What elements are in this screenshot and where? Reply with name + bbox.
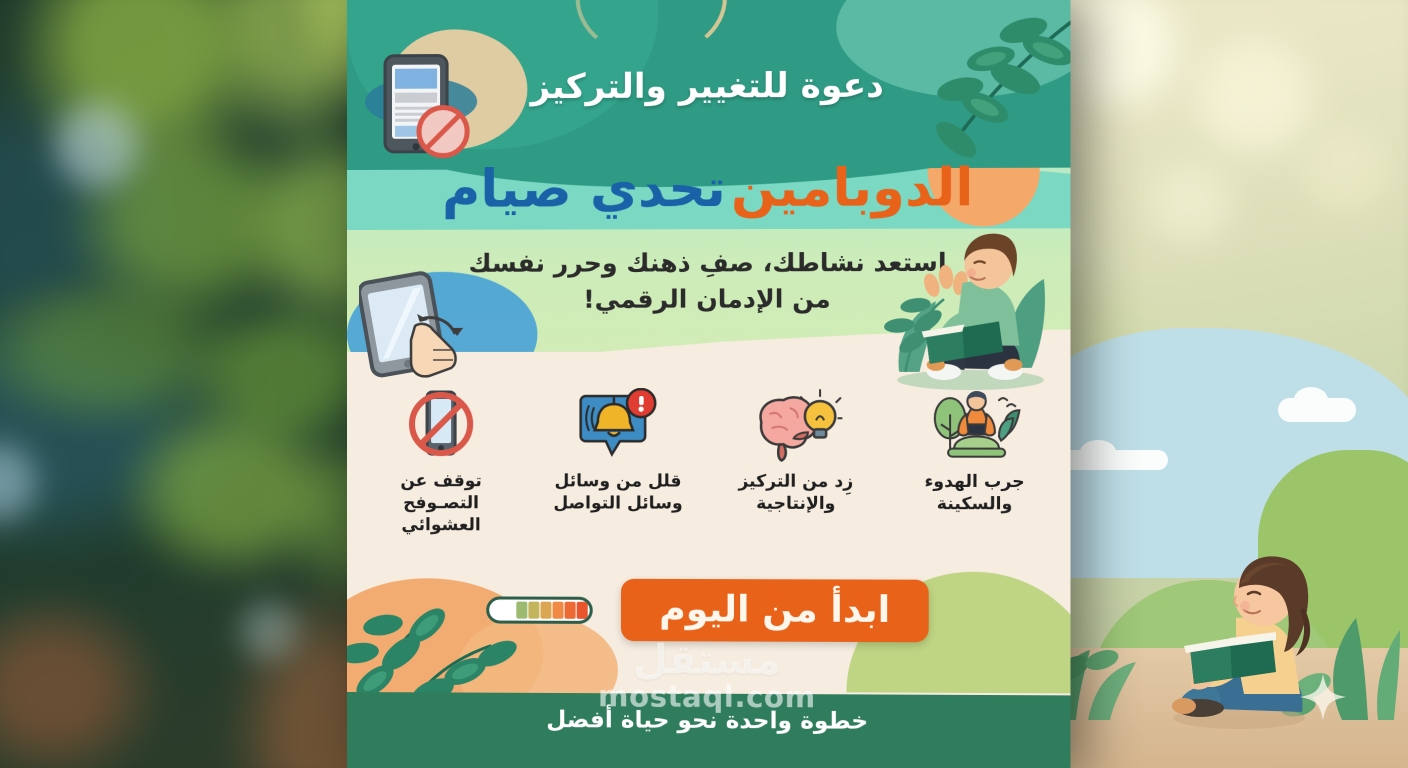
meditation-icon — [928, 388, 1022, 463]
feature-label: قلل من وسائل وسائل التواصل — [553, 470, 682, 515]
poster-title: الدوبامين تحدي صيام — [347, 160, 1070, 219]
header-title: دعوة للتغيير والتركيز — [531, 65, 884, 107]
progress-segment — [577, 601, 588, 618]
woman-reading-scene — [1048, 260, 1408, 768]
progress-segment — [516, 601, 527, 618]
cta-row: ابدأ من اليوم — [347, 578, 1070, 643]
feature-item-notifications: قلل من وسائل وسائل التواصل — [537, 388, 698, 515]
feature-item-focus: زِد من التركيز والإنتاجية — [715, 388, 877, 515]
feature-item-calm: جرب الهدوء والسكينة — [893, 388, 1056, 516]
feature-label: زِد من التركيز والإنتاجية — [738, 471, 853, 516]
progress-segment — [528, 601, 539, 618]
progress-segment — [564, 601, 575, 618]
man-reading-book-illustration — [869, 220, 1062, 392]
feature-item-no-phone: توقف عن التصـوفح العشوائي — [361, 388, 521, 537]
features-row: توقف عن التصـوفح العشوائي قلل من وسائل و… — [361, 388, 1056, 560]
start-today-button[interactable]: ابدأ من اليوم — [621, 579, 929, 642]
progress-segment — [540, 601, 551, 618]
title-word-orange: الدوبامين — [731, 158, 974, 219]
title-word-blue: تحدي صيام — [442, 159, 726, 220]
tablet-prohibited-icon — [377, 51, 473, 160]
progress-bar[interactable] — [486, 596, 593, 623]
footer-tagline: خطوة واحدة نحو حياة أفضل — [546, 707, 868, 735]
no-phone-icon — [395, 388, 487, 462]
feature-label: توقف عن التصـوفح العشوائي — [400, 470, 481, 537]
poster-bottom-strip — [347, 746, 1070, 768]
sparkle-icon — [1300, 674, 1346, 720]
scene-cloud — [1278, 398, 1356, 422]
poster-footer: خطوة واحدة نحو حياة أفضل — [347, 692, 1070, 750]
progress-segment — [552, 601, 563, 618]
feature-label: جرب الهدوء والسكينة — [924, 471, 1024, 516]
poster-card: دعوة للتغيير والتركيز الدوبامين تحدي صيا… — [347, 0, 1063, 768]
tablet-hand-swipe-icon — [359, 268, 484, 378]
notification-bell-icon — [572, 388, 665, 462]
scene-cloud — [1058, 450, 1168, 470]
brain-lightbulb-icon — [749, 388, 842, 463]
